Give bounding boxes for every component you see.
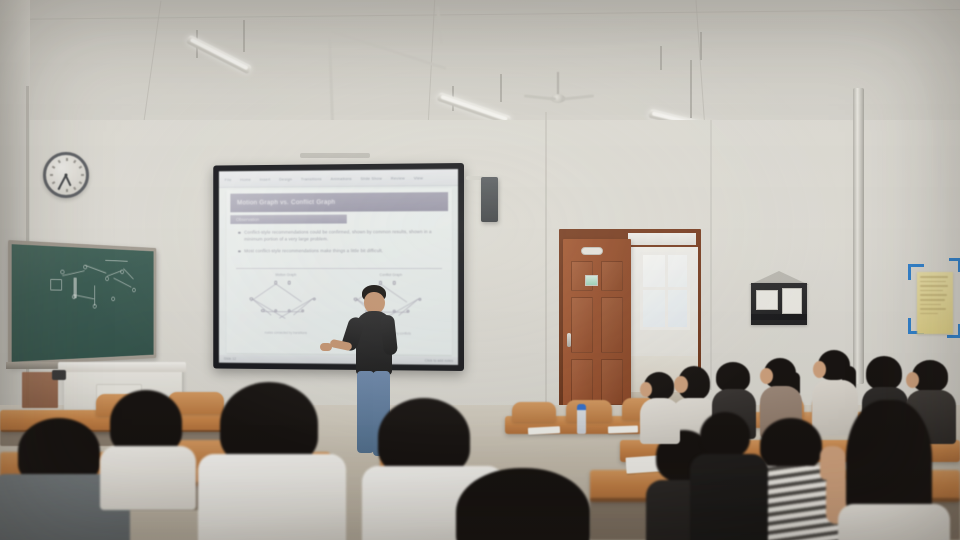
toolbar-item[interactable]: Animations (331, 176, 352, 181)
slide-title-bar: Motion Graph vs. Conflict Graph (230, 192, 448, 212)
wall-notice-board (751, 283, 807, 325)
wall-speaker (481, 177, 498, 222)
slide-figures: Motion Graph (234, 274, 444, 336)
slide-title-text: Motion Graph vs. Conflict Graph (237, 199, 335, 207)
light-rod (690, 60, 692, 118)
slide-figure-motion-graph: Motion Graph (238, 274, 334, 335)
slide-canvas: Motion Graph vs. Conflict Graph Observat… (227, 188, 453, 355)
toolbar-item[interactable]: View (414, 175, 423, 180)
wall-corner (545, 112, 547, 412)
wall-pipe (853, 88, 864, 384)
podium-top-surface (58, 362, 186, 372)
toolbar-item[interactable]: Review (391, 175, 405, 180)
light-rod (500, 74, 502, 102)
student-center-front (448, 468, 602, 540)
clock-minute-hand (58, 175, 67, 190)
notice-panel (782, 288, 802, 314)
slide-subtitle-bar: Observation (230, 215, 346, 224)
classroom-scene: File Home Insert Design Transitions Anim… (0, 0, 960, 540)
student-torso (198, 454, 346, 540)
bench-seat-back (566, 400, 612, 422)
door-sticker (585, 275, 598, 286)
bench-seat-back (512, 402, 556, 422)
bracket-corner-icon (949, 258, 960, 272)
toolbar-item[interactable]: Design (279, 176, 292, 181)
figure-bottom-caption: nodes connected by transitions (238, 330, 334, 335)
toolbar-item[interactable]: File (225, 177, 232, 182)
slide-bullet-list: Conflict-style recommendations could be … (238, 228, 442, 259)
screen-mount-bar (300, 153, 370, 158)
wall-corner (710, 120, 712, 390)
light-rod (700, 32, 702, 60)
toolbar-item[interactable]: Home (240, 176, 251, 181)
bullet-text: Most conflict-style recommendations make… (244, 247, 383, 254)
presentation-toolbar[interactable]: File Home Insert Design Transitions Anim… (219, 169, 458, 188)
student-far-left-edge (100, 390, 196, 500)
projected-image: File Home Insert Design Transitions Anim… (219, 169, 458, 365)
light-rod (243, 20, 245, 52)
fan-rod (557, 72, 559, 96)
wall-clock (43, 152, 89, 198)
paper-sheet (608, 425, 638, 433)
toolbar-item[interactable]: Insert (260, 176, 271, 181)
student-long-hair-right (838, 400, 950, 540)
student-hair (110, 390, 182, 454)
door-sign-plate (581, 247, 603, 255)
toolbar-item[interactable]: Slide Show (360, 175, 382, 180)
presenter-left-arm (380, 314, 398, 355)
water-bottle (577, 404, 586, 434)
notice-panel (756, 290, 778, 310)
corridor-window (640, 252, 690, 330)
student-torso (100, 446, 196, 510)
bullet-dot-icon (238, 231, 240, 233)
bullet-text: Conflict-style recommendations could be … (244, 228, 442, 243)
wooden-door[interactable] (563, 239, 631, 415)
yellow-notice-poster (917, 272, 953, 334)
chalkboard (8, 240, 156, 366)
slide-number: Slide 12 (224, 357, 236, 361)
student-hair (378, 398, 470, 476)
podium-equipment (52, 370, 66, 380)
toolbar-item[interactable]: Transitions (301, 176, 322, 181)
slide-subtitle-text: Observation (236, 217, 259, 222)
door-handle[interactable] (567, 333, 571, 347)
slide-bullet: Most conflict-style recommendations make… (238, 247, 442, 254)
figure-caption: Conflict Graph (342, 273, 440, 277)
notes-hint: Click to add notes (425, 359, 453, 363)
figure-caption: Motion Graph (238, 273, 334, 277)
student-white-shirt-left (198, 382, 346, 540)
student-black-hair-seated (690, 412, 768, 540)
presenter-right-hand (320, 343, 332, 351)
slide-divider (236, 268, 442, 269)
student-hair (456, 468, 590, 540)
slide-footer: Slide 12 Click to add notes (219, 355, 458, 365)
slide-bullet: Conflict-style recommendations could be … (238, 228, 442, 243)
bullet-dot-icon (238, 250, 240, 252)
door-transom-window (626, 231, 698, 247)
light-rod (660, 46, 662, 70)
student-left-midrow (640, 372, 680, 442)
